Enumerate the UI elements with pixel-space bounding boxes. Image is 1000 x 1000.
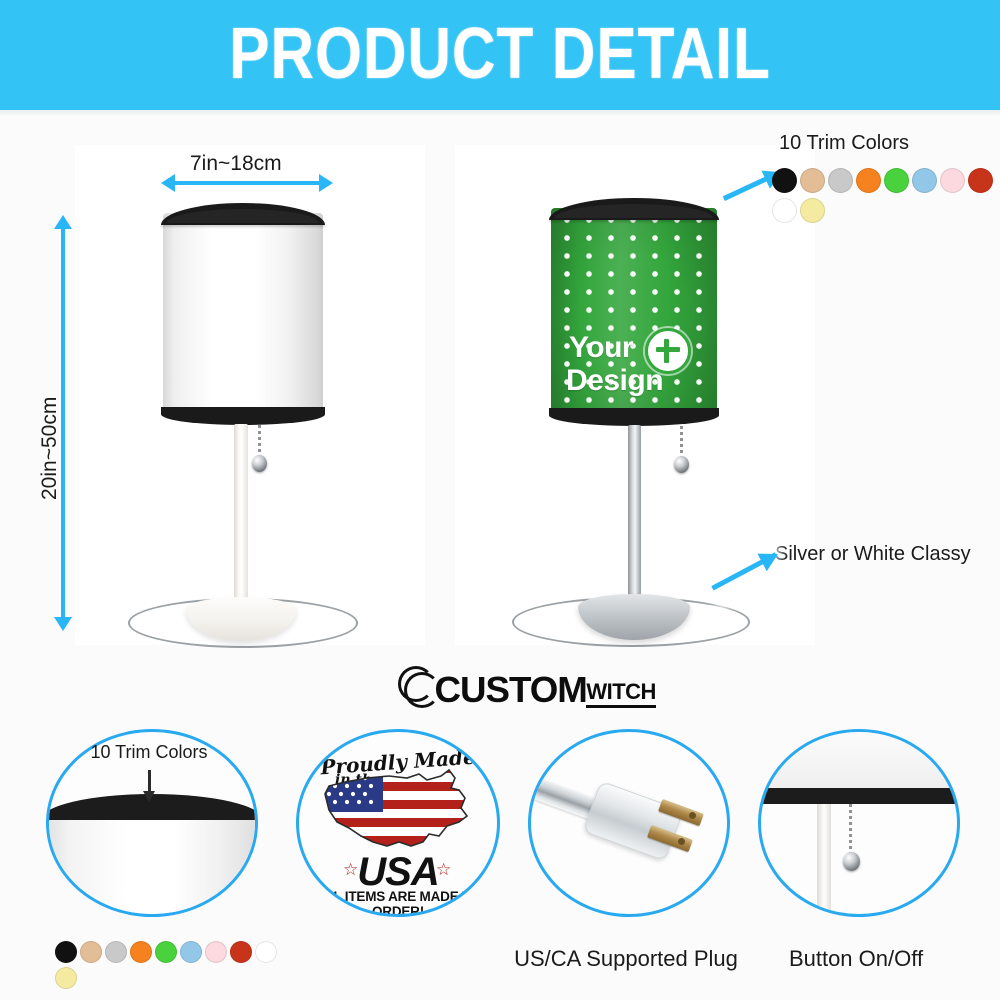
header-shadow — [0, 110, 1000, 116]
trim-colors-title-top: 10 Trim Colors — [779, 132, 909, 155]
plug-panel — [528, 729, 730, 917]
pull-chain[interactable] — [680, 426, 683, 460]
trim-swatch-yellow[interactable] — [55, 967, 77, 989]
pull-chain-ball[interactable] — [843, 852, 860, 871]
usa-map-icon — [315, 764, 483, 862]
trim-ring-bottom — [549, 408, 719, 426]
brand-logo: CUSTOM WITCH — [398, 666, 656, 708]
trim-swatch-light-blue[interactable] — [912, 168, 937, 193]
trim-swatch-green[interactable] — [884, 168, 909, 193]
green-lamp-shade: Your Design — [551, 198, 717, 426]
trim-swatch-white[interactable] — [772, 198, 797, 223]
width-dimension-label: 7in~18cm — [190, 152, 282, 176]
shade-surface: Your Design — [551, 208, 717, 416]
power-plug-icon — [582, 781, 683, 862]
pull-chain-ball[interactable] — [252, 455, 267, 472]
logo-main-text: CUSTOM — [435, 672, 587, 708]
made-in-usa-panel: Proudly Made in the — [296, 729, 500, 917]
trim-closeup-bar — [758, 788, 960, 804]
trim-colors-panel-caption: 10 Trim Colors — [46, 742, 252, 763]
usa-badge-subtitle: ALL ITEMS ARE MADE TO ORDER! — [299, 889, 497, 917]
white-lamp-shade — [163, 203, 323, 425]
height-dimension-arrow — [61, 228, 65, 618]
trim-swatch-orange[interactable] — [856, 168, 881, 193]
lamp-pole — [234, 424, 248, 604]
plus-icon — [645, 328, 691, 374]
trim-swatch-red[interactable] — [968, 168, 993, 193]
logo-sub-text: WITCH — [586, 680, 656, 708]
pull-chain-ball[interactable] — [674, 456, 689, 473]
switch-panel — [758, 729, 960, 917]
height-dimension-label: 20in~50cm — [38, 397, 62, 500]
trim-swatch-light-blue[interactable] — [180, 941, 202, 963]
star-right-icon: ☆ — [436, 860, 451, 880]
trim-color-swatches-top[interactable] — [772, 168, 1000, 228]
pull-chain-icon[interactable] — [849, 804, 852, 856]
trim-swatch-white[interactable] — [255, 941, 277, 963]
trim-swatch-yellow[interactable] — [800, 198, 825, 223]
trim-swatch-tan[interactable] — [80, 941, 102, 963]
trim-swatch-tan[interactable] — [800, 168, 825, 193]
trim-swatch-black[interactable] — [772, 168, 797, 193]
trim-swatch-black[interactable] — [55, 941, 77, 963]
shade-closeup — [758, 732, 960, 792]
trim-swatch-green[interactable] — [155, 941, 177, 963]
trim-swatch-gray[interactable] — [105, 941, 127, 963]
trim-ring-bottom — [161, 407, 325, 425]
switch-panel-caption: Button On/Off — [758, 946, 954, 972]
header-banner: PRODUCT DETAIL — [0, 0, 1000, 110]
usa-badge: Proudly Made in the — [299, 732, 497, 914]
width-dimension-arrow — [174, 181, 320, 185]
trim-color-swatches-bottom[interactable] — [55, 941, 280, 993]
trim-swatch-red[interactable] — [230, 941, 252, 963]
shade-surface — [163, 213, 323, 415]
pole-closeup — [817, 804, 831, 914]
lamp-pole — [628, 425, 641, 603]
down-arrow-icon — [148, 770, 151, 792]
pull-chain[interactable] — [258, 425, 261, 459]
trim-closeup-shade — [46, 810, 258, 917]
trim-swatch-orange[interactable] — [130, 941, 152, 963]
trim-swatch-pink[interactable] — [940, 168, 965, 193]
base-finish-label: Silver or White Classy — [775, 543, 971, 566]
product-detail-infographic: PRODUCT DETAIL 7in~18cm 20in~50cm 10 Tri… — [0, 0, 1000, 1000]
design-text-line1: Your — [569, 333, 633, 363]
page-title: PRODUCT DETAIL — [80, 18, 920, 90]
plug-panel-caption: US/CA Supported Plug — [490, 946, 762, 972]
design-text-line2: Design — [566, 366, 663, 396]
trim-swatch-pink[interactable] — [205, 941, 227, 963]
trim-swatch-gray[interactable] — [828, 168, 853, 193]
